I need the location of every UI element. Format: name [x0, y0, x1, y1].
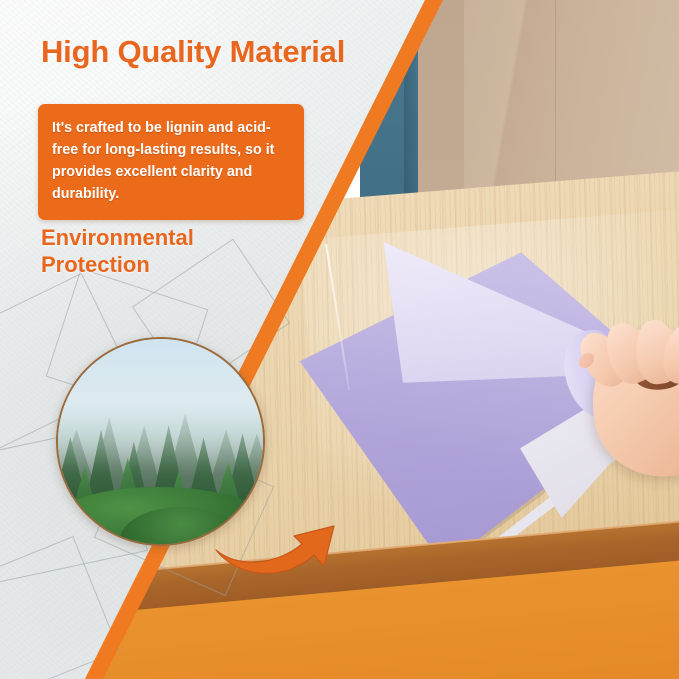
section-subtitle: Environmental Protection [41, 224, 194, 279]
infographic-canvas: High Quality Material It's crafted to be… [0, 0, 679, 679]
curved-arrow-icon [214, 492, 342, 578]
subtitle-line-1: Environmental [41, 224, 194, 251]
feature-callout-box: It's crafted to be lignin and acid-free … [38, 104, 304, 220]
hand-lifting-paper [574, 306, 679, 496]
forest-mist [56, 388, 265, 470]
feature-callout-text: It's crafted to be lignin and acid-free … [52, 117, 290, 206]
page-title: High Quality Material [41, 34, 345, 70]
subtitle-line-2: Protection [41, 251, 194, 278]
